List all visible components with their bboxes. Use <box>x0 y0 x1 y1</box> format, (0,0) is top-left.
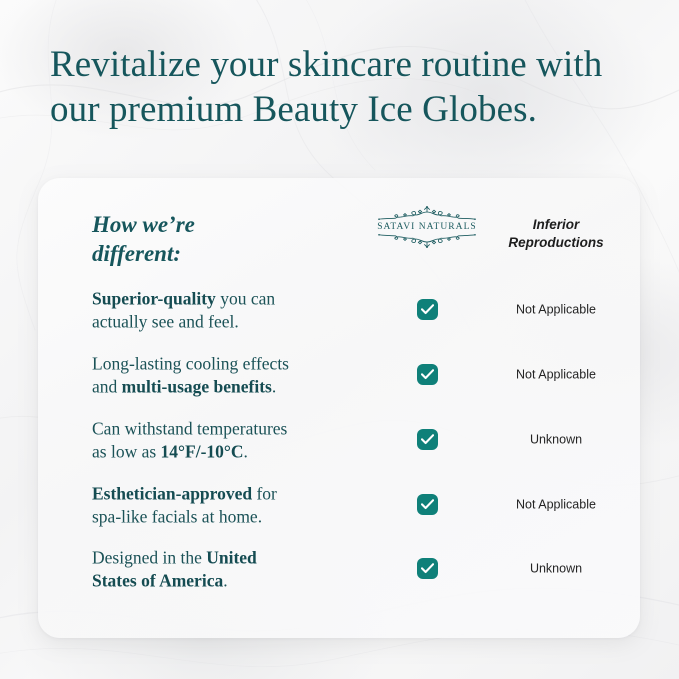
competitor-column-header: Inferior Reproductions <box>486 216 626 252</box>
feature-text: Designed in the United States of America… <box>92 546 368 592</box>
check-circle-icon <box>417 494 438 515</box>
comparison-row: Esthetician-approved for spa-like facial… <box>38 479 640 531</box>
headline-line-1: Revitalize your skincare routine with <box>50 42 650 87</box>
comparison-title-line-2: different: <box>92 239 368 268</box>
feature-bold-part: United <box>206 547 257 567</box>
comparison-title-line-1: How we’re <box>92 210 368 239</box>
check-circle-icon <box>417 558 438 579</box>
comparison-row: Long-lasting cooling effects and multi-u… <box>38 349 640 401</box>
competitor-value: Unknown <box>486 433 626 448</box>
feature-plain-part: as low as <box>92 441 161 461</box>
feature-bold-part-2: States of America <box>92 570 223 590</box>
feature-line-2: spa-like facials at home. <box>92 505 368 528</box>
feature-line-1: Can withstand temperatures <box>92 417 368 440</box>
page-headline: Revitalize your skincare routine with ou… <box>50 42 650 132</box>
feature-period: . <box>272 376 276 396</box>
brand-wordmark: SATAVI NATURALS <box>368 222 486 232</box>
comparison-card: How we’re different: <box>38 178 640 638</box>
feature-text: Long-lasting cooling effects and multi-u… <box>92 352 368 398</box>
comparison-row: Designed in the United States of America… <box>38 543 640 595</box>
feature-period: . <box>244 441 248 461</box>
satavi-value-cell <box>368 364 486 386</box>
headline-line-2: our premium Beauty Ice Globes. <box>50 87 650 132</box>
feature-period: . <box>223 570 227 590</box>
feature-line-1: Designed in the United <box>92 546 368 569</box>
feature-bold-part: Esthetician-approved <box>92 483 252 503</box>
brand-logo: SATAVI NATURALS <box>368 206 486 248</box>
satavi-value-cell <box>368 558 486 580</box>
feature-text: Can withstand temperatures as low as 14°… <box>92 417 368 463</box>
ornament-flourish-icon <box>375 206 479 221</box>
satavi-value-cell <box>368 429 486 451</box>
ornament-flourish-bottom-icon <box>375 233 479 248</box>
check-circle-icon <box>417 299 438 320</box>
comparison-title: How we’re different: <box>92 210 368 269</box>
feature-line-1: Superior-quality you can <box>92 287 368 310</box>
satavi-value-cell <box>368 299 486 321</box>
feature-line-1: Long-lasting cooling effects <box>92 352 368 375</box>
comparison-row: Superior-quality you can actually see an… <box>38 284 640 336</box>
feature-line-2: States of America. <box>92 569 368 592</box>
competitor-header-line-2: Reproductions <box>486 234 626 252</box>
satavi-value-cell <box>368 494 486 516</box>
comparison-row: Can withstand temperatures as low as 14°… <box>38 414 640 466</box>
feature-bold-part: multi-usage benefits <box>122 376 272 396</box>
feature-plain-part: you can <box>216 288 275 308</box>
feature-line-1: Esthetician-approved for <box>92 482 368 505</box>
comparison-table-header: How we’re different: <box>38 204 640 276</box>
feature-plain-part: and <box>92 376 122 396</box>
feature-plain-part: Designed in the <box>92 547 206 567</box>
competitor-header-line-1: Inferior <box>486 216 626 234</box>
check-circle-icon <box>417 429 438 450</box>
feature-line-2: and multi-usage benefits. <box>92 375 368 398</box>
feature-bold-part: 14°F/-10°C <box>161 441 244 461</box>
comparison-infographic: Revitalize your skincare routine with ou… <box>0 0 679 679</box>
feature-text: Esthetician-approved for spa-like facial… <box>92 482 368 528</box>
competitor-value: Unknown <box>486 562 626 577</box>
feature-line-2: actually see and feel. <box>92 310 368 333</box>
feature-line-2: as low as 14°F/-10°C. <box>92 440 368 463</box>
feature-text: Superior-quality you can actually see an… <box>92 287 368 333</box>
competitor-value: Not Applicable <box>486 498 626 513</box>
feature-bold-part: Superior-quality <box>92 288 216 308</box>
feature-plain-part: for <box>252 483 277 503</box>
competitor-value: Not Applicable <box>486 368 626 383</box>
check-circle-icon <box>417 364 438 385</box>
competitor-value: Not Applicable <box>486 303 626 318</box>
